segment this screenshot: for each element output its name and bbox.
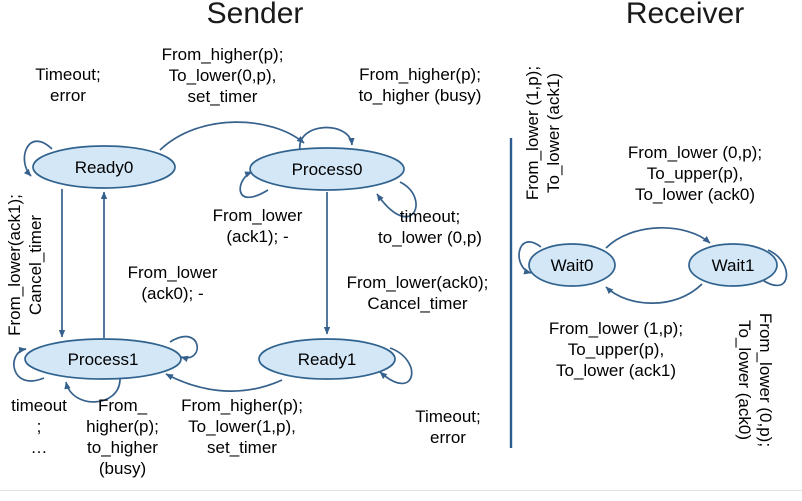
state-ellipse-process0 (250, 148, 404, 190)
edge-label-ready0-self: Timeout; error (8, 64, 128, 106)
edge-wait0-to-wait1 (606, 228, 710, 248)
edge-label-wait0-self: From_lower (1,p); To_lower (ack1) (522, 38, 564, 228)
state-ellipse-wait0 (529, 244, 615, 286)
edge-ready0-to-process0 (160, 122, 304, 150)
edge-label-process0-self-top: From_higher(p); to_higher (busy) (325, 64, 515, 106)
edge-label-process1-self-left: timeout ; … (0, 395, 78, 458)
edge-label-process0-self-left: From_lower (ack1); - (185, 205, 330, 247)
edge-label-ready0-to-process1: From_lower(ack1); Cancel_timer (4, 185, 46, 345)
edge-process0-self-top (300, 128, 352, 150)
edge-label-ready1-self: Timeout; error (395, 406, 501, 448)
edge-label-process0-to-ready1: From_lower(ack0); Cancel_timer (330, 272, 505, 314)
receiver-title: Receiver (590, 0, 780, 30)
edge-label-wait1-self: From_lower (0,p); To_lower (ack0) (734, 290, 776, 470)
state-ellipse-ready0 (33, 146, 175, 188)
edge-ready1-to-process1 (166, 374, 282, 391)
edge-label-wait1-to-wait0: From_lower (1,p); To_upper(p), To_lower … (521, 318, 711, 381)
edge-label-process1-to-ready0: From_lower (ack0); - (100, 262, 245, 304)
state-ellipse-process1 (25, 339, 181, 379)
diagram-canvas: Sender Receiver Ready0 Process0 Process1… (0, 0, 802, 501)
edge-label-process0-self-right: timeout; to_lower (0,p) (355, 206, 505, 248)
sender-title: Sender (165, 0, 345, 30)
edge-wait1-to-wait0 (606, 284, 702, 303)
state-ellipse-ready1 (259, 339, 395, 379)
edge-label-ready1-to-process1: From_higher(p); To_lower(1,p), set_timer (152, 395, 332, 458)
state-ellipse-wait1 (689, 244, 777, 286)
edge-label-wait0-to-wait1: From_lower (0,p); To_upper(p), To_lower … (600, 142, 790, 205)
edge-label-ready0-to-process0: From_higher(p); To_lower(0,p), set_timer (130, 44, 315, 107)
bottom-divider (0, 490, 802, 491)
